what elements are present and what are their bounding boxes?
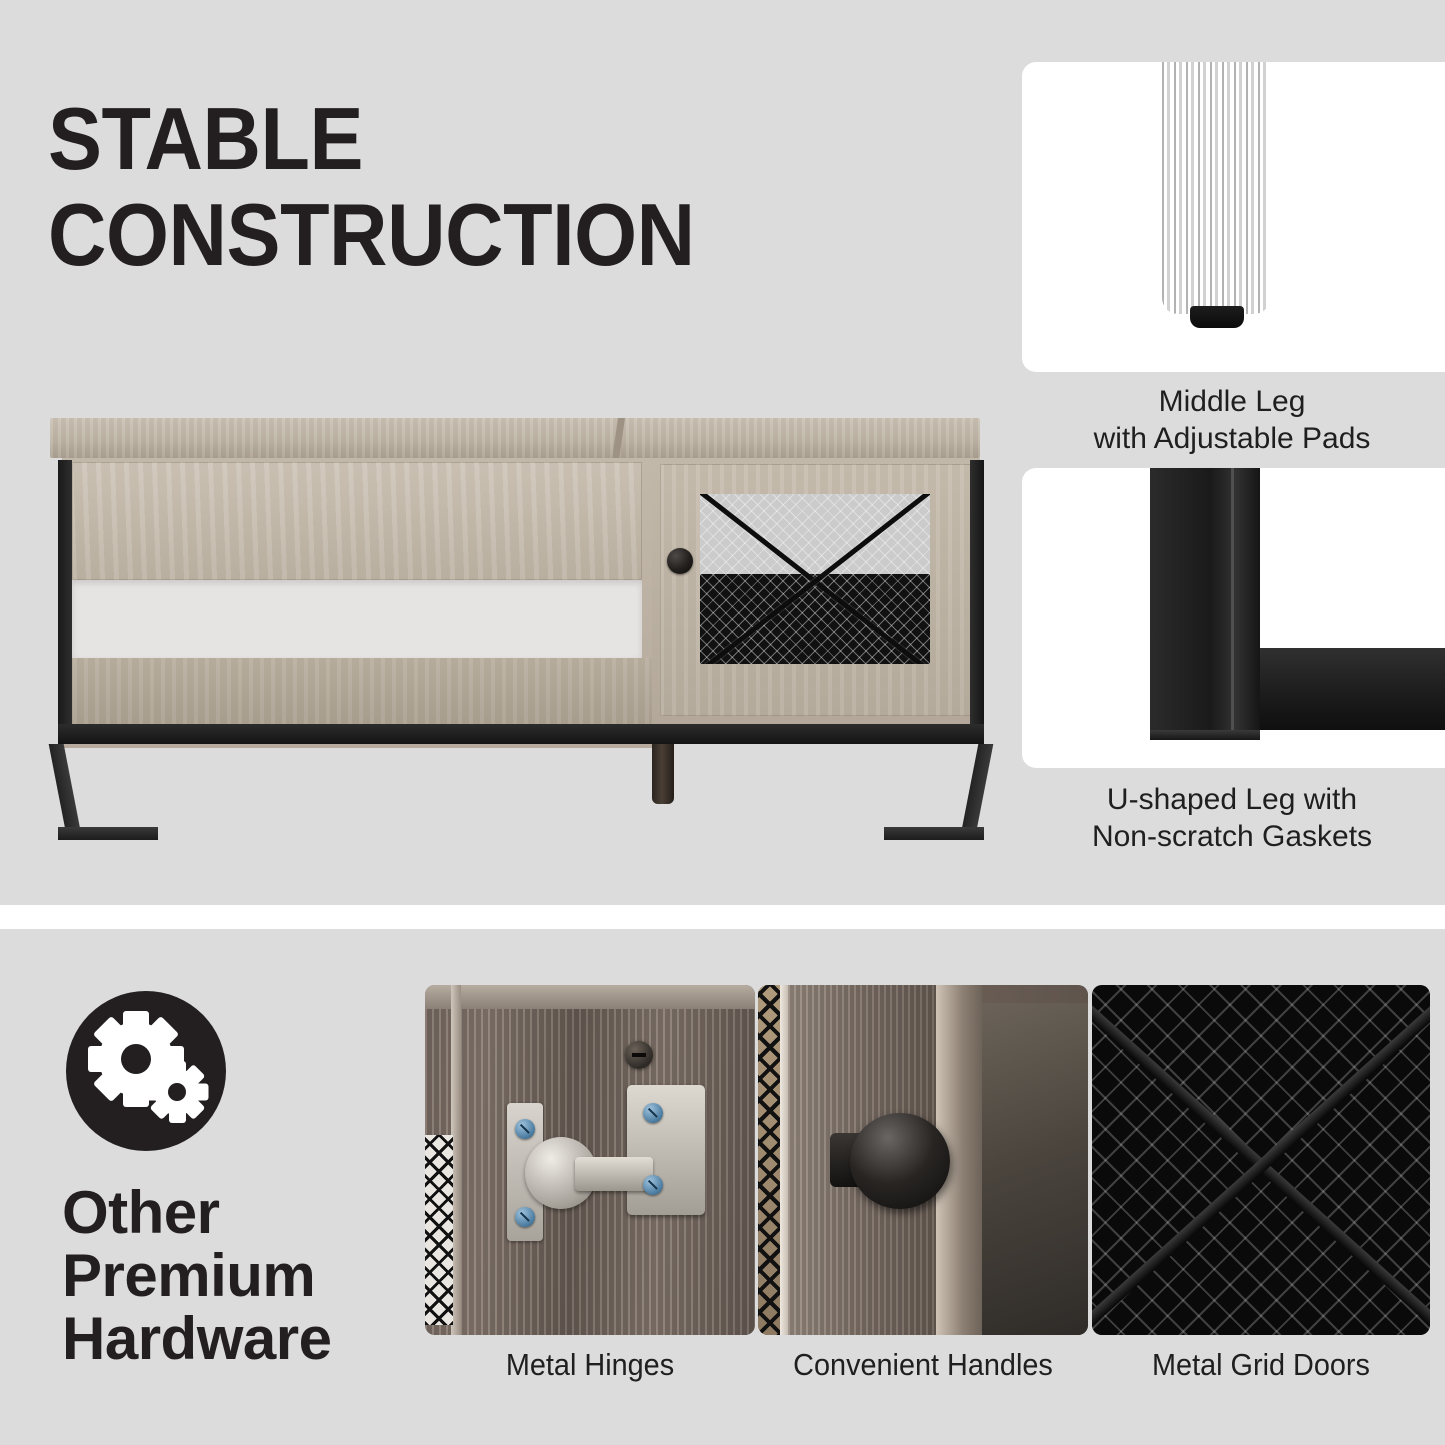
frame-bottom-rail	[58, 724, 984, 744]
bottom-heading-line-2: Premium	[62, 1244, 412, 1307]
inset-caption-middle-leg-line-2: with Adjustable Pads	[1012, 421, 1445, 458]
headline-line-1: STABLE	[48, 89, 363, 188]
frame-left-post	[58, 460, 72, 728]
feature-tile-metal-hinges	[425, 985, 755, 1335]
inset-caption-u-shaped-leg: U-shaped Leg with Non-scratch Gaskets	[1012, 782, 1445, 855]
screw-icon-4	[643, 1175, 663, 1195]
u-leg-vertical-bar	[1150, 468, 1260, 740]
coffee-table-illustration	[40, 400, 1000, 850]
frame-right-post	[970, 460, 984, 728]
hinge-arm	[575, 1157, 653, 1191]
stable-construction-section: STABLE CONSTRUCTION	[0, 0, 1445, 905]
feature-tile-metal-grid-doors	[1092, 985, 1430, 1335]
table-top-surface	[50, 418, 980, 458]
handle-dark-interior	[982, 1003, 1088, 1335]
headline-line-2: CONSTRUCTION	[48, 192, 894, 278]
tile-caption-metal-hinges: Metal Hinges	[437, 1347, 744, 1383]
handle-mesh-edge	[758, 985, 782, 1335]
screw-icon-1	[515, 1119, 535, 1139]
cam-screw-icon	[625, 1041, 653, 1069]
tile-caption-metal-grid-doors: Metal Grid Doors	[1104, 1347, 1418, 1383]
bottom-heading-line-3: Hardware	[62, 1307, 412, 1370]
middle-support-leg	[652, 744, 674, 804]
lower-shelf	[62, 658, 652, 724]
hinge-mounting-plate	[627, 1085, 705, 1215]
wood-leg-cylinder	[1162, 62, 1270, 314]
inset-caption-u-leg-line-1: U-shaped Leg with	[1012, 782, 1445, 819]
u-leg-horizontal-bar	[1250, 648, 1445, 730]
inset-caption-u-leg-line-2: Non-scratch Gaskets	[1012, 819, 1445, 856]
mesh-backlight	[700, 494, 930, 574]
bottom-heading-line-1: Other	[62, 1181, 412, 1244]
u-leg-gasket-foot	[1150, 730, 1260, 740]
knob-handle-icon	[850, 1113, 950, 1209]
hinge-mesh-edge	[425, 1135, 453, 1325]
screw-icon-3	[643, 1103, 663, 1123]
premium-hardware-section: Other Premium Hardware Metal Hinges	[0, 929, 1445, 1445]
infographic-page: STABLE CONSTRUCTION	[0, 0, 1445, 1445]
u-leg-right	[884, 744, 984, 840]
mesh-grid-panel	[700, 494, 930, 664]
hero-product-image	[30, 392, 1015, 862]
tile-caption-convenient-handles: Convenient Handles	[753, 1347, 1093, 1383]
door-knob-icon	[667, 548, 693, 574]
gears-icon	[66, 991, 226, 1151]
section-divider	[0, 905, 1445, 929]
gear-small-icon	[146, 1061, 208, 1123]
open-storage-cavity	[72, 580, 642, 658]
hinge-top-edge	[425, 985, 755, 1009]
u-leg-left	[58, 744, 158, 840]
screw-icon-2	[515, 1207, 535, 1227]
inset-card-u-shaped-leg	[1022, 468, 1445, 768]
page-title: STABLE CONSTRUCTION	[48, 96, 894, 278]
front-panel	[72, 462, 642, 580]
inset-caption-middle-leg-line-1: Middle Leg	[1012, 384, 1445, 421]
inset-card-middle-leg	[1022, 62, 1445, 372]
feature-tile-convenient-handles	[758, 985, 1088, 1335]
handle-light-edge	[780, 985, 788, 1335]
adjustable-pad	[1190, 306, 1244, 328]
section-heading-premium-hardware: Other Premium Hardware	[62, 1181, 412, 1370]
inset-caption-middle-leg: Middle Leg with Adjustable Pads	[1012, 384, 1445, 457]
